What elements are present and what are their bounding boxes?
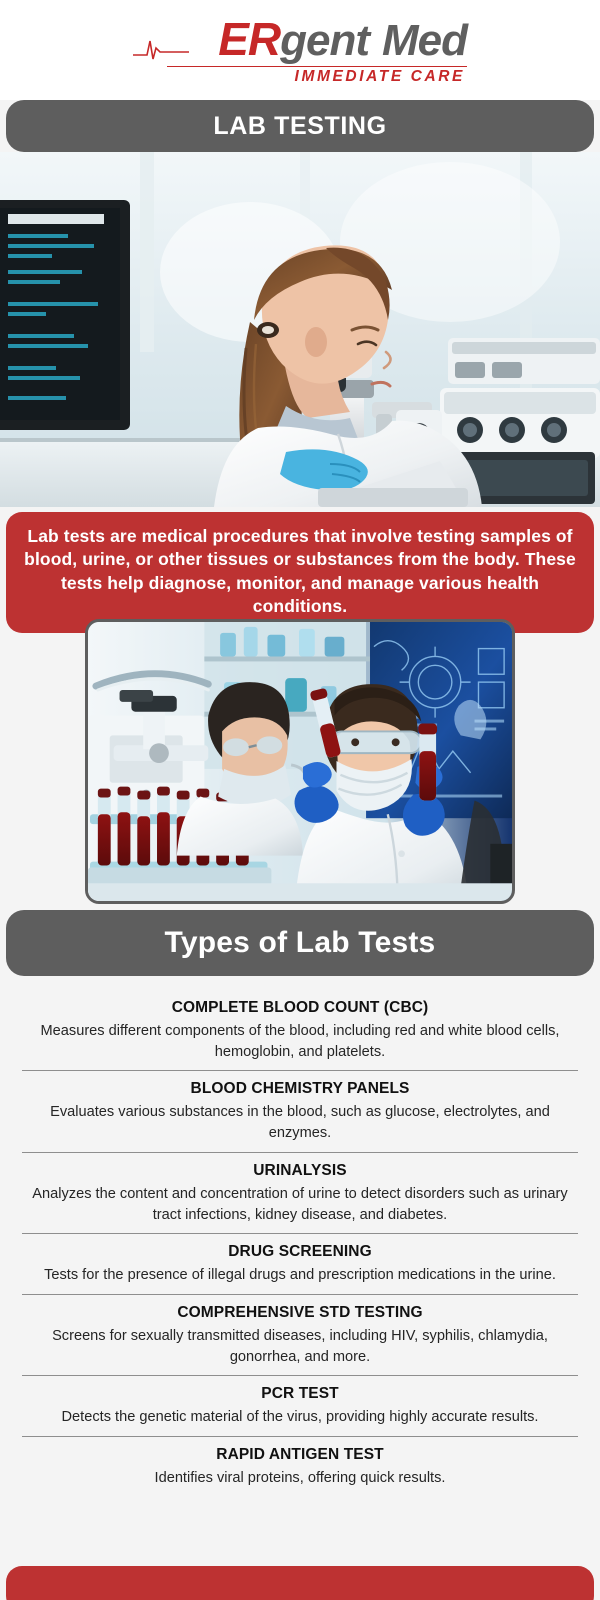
test-description: Measures different components of the blo… xyxy=(22,1021,578,1062)
types-of-lab-tests-title: Types of Lab Tests xyxy=(165,926,436,959)
test-title: BLOOD CHEMISTRY PANELS xyxy=(22,1080,578,1098)
test-title: COMPLETE BLOOD COUNT (CBC) xyxy=(22,999,578,1017)
test-description: Screens for sexually transmitted disease… xyxy=(22,1326,578,1367)
test-title: PCR TEST xyxy=(22,1385,578,1403)
list-item: COMPLETE BLOOD COUNT (CBC) Measures diff… xyxy=(22,990,578,1070)
brand-logo[interactable]: ERgent Med IMMEDIATE CARE xyxy=(133,16,467,85)
intro-description-box: Lab tests are medical procedures that in… xyxy=(6,512,594,633)
heartbeat-pulse-icon xyxy=(133,35,189,61)
logo-divider-rule xyxy=(167,66,467,68)
list-item: BLOOD CHEMISTRY PANELS Evaluates various… xyxy=(22,1070,578,1151)
list-item: COMPREHENSIVE STD TESTING Screens for se… xyxy=(22,1294,578,1375)
lab-testing-banner: LAB TESTING xyxy=(6,100,594,152)
test-description: Detects the genetic material of the viru… xyxy=(22,1407,578,1428)
test-description: Tests for the presence of illegal drugs … xyxy=(22,1265,578,1286)
logo-area: ERgent Med IMMEDIATE CARE xyxy=(0,0,600,100)
list-item: URINALYSIS Analyzes the content and conc… xyxy=(22,1152,578,1233)
intro-description-text: Lab tests are medical procedures that in… xyxy=(24,526,576,616)
logo-text-med: Med xyxy=(382,19,467,63)
test-description: Evaluates various substances in the bloo… xyxy=(22,1102,578,1143)
test-title: URINALYSIS xyxy=(22,1162,578,1180)
logo-text-gent: gent xyxy=(280,19,369,63)
list-item: DRUG SCREENING Tests for the presence of… xyxy=(22,1233,578,1294)
logo-text-er: ER xyxy=(218,16,280,62)
framed-photo-illustration xyxy=(88,622,512,901)
lab-technicians-blood-samples-photo xyxy=(85,619,515,904)
logo-tagline: IMMEDIATE CARE xyxy=(295,69,467,85)
test-description: Identifies viral proteins, offering quic… xyxy=(22,1468,578,1489)
list-item: PCR TEST Detects the genetic material of… xyxy=(22,1375,578,1436)
test-title: RAPID ANTIGEN TEST xyxy=(22,1446,578,1464)
test-description: Analyzes the content and concentration o… xyxy=(22,1184,578,1225)
list-item: RAPID ANTIGEN TEST Identifies viral prot… xyxy=(22,1436,578,1497)
lab-testing-banner-title: LAB TESTING xyxy=(213,112,386,140)
types-of-lab-tests-banner: Types of Lab Tests xyxy=(6,910,594,976)
scientist-microscope-photo xyxy=(0,152,600,507)
lab-tests-list: COMPLETE BLOOD COUNT (CBC) Measures diff… xyxy=(0,990,600,1497)
logo-wordmark: ERgent Med xyxy=(218,16,467,63)
test-title: COMPREHENSIVE STD TESTING xyxy=(22,1304,578,1322)
bottom-red-bar xyxy=(6,1566,594,1600)
test-title: DRUG SCREENING xyxy=(22,1243,578,1261)
hero-photo-illustration xyxy=(0,152,600,507)
